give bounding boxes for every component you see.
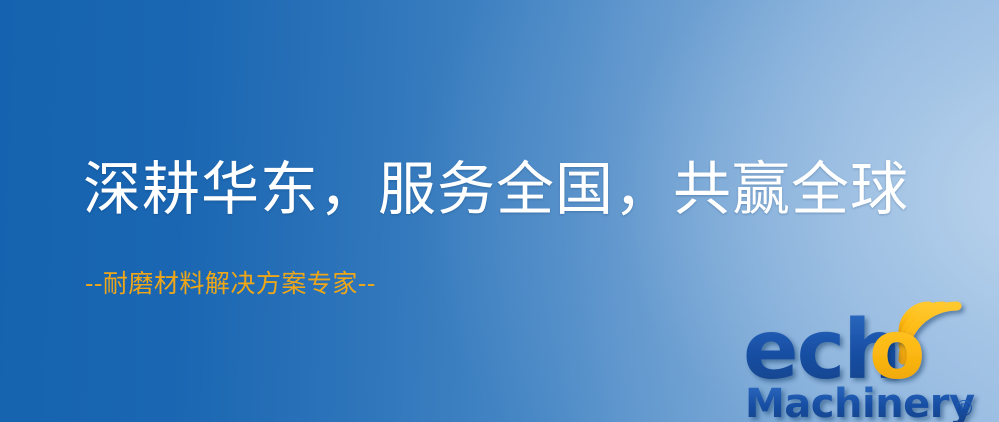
svg-text:Machinery: Machinery: [745, 381, 975, 422]
echo-machinery-logo[interactable]: ech o Machinery ®: [743, 292, 999, 422]
logo-graphic: ech o Machinery ®: [743, 292, 999, 422]
promo-banner: 深耕华东，服务全国，共赢全球 --耐磨材料解决方案专家--: [0, 0, 999, 422]
logo-tagline-machinery: Machinery ®: [745, 381, 975, 422]
subtitle-tagline: --耐磨材料解决方案专家--: [85, 268, 376, 300]
registered-trademark-icon: ®: [953, 397, 975, 422]
page-title: 深耕华东，服务全国，共赢全球: [83, 154, 909, 224]
